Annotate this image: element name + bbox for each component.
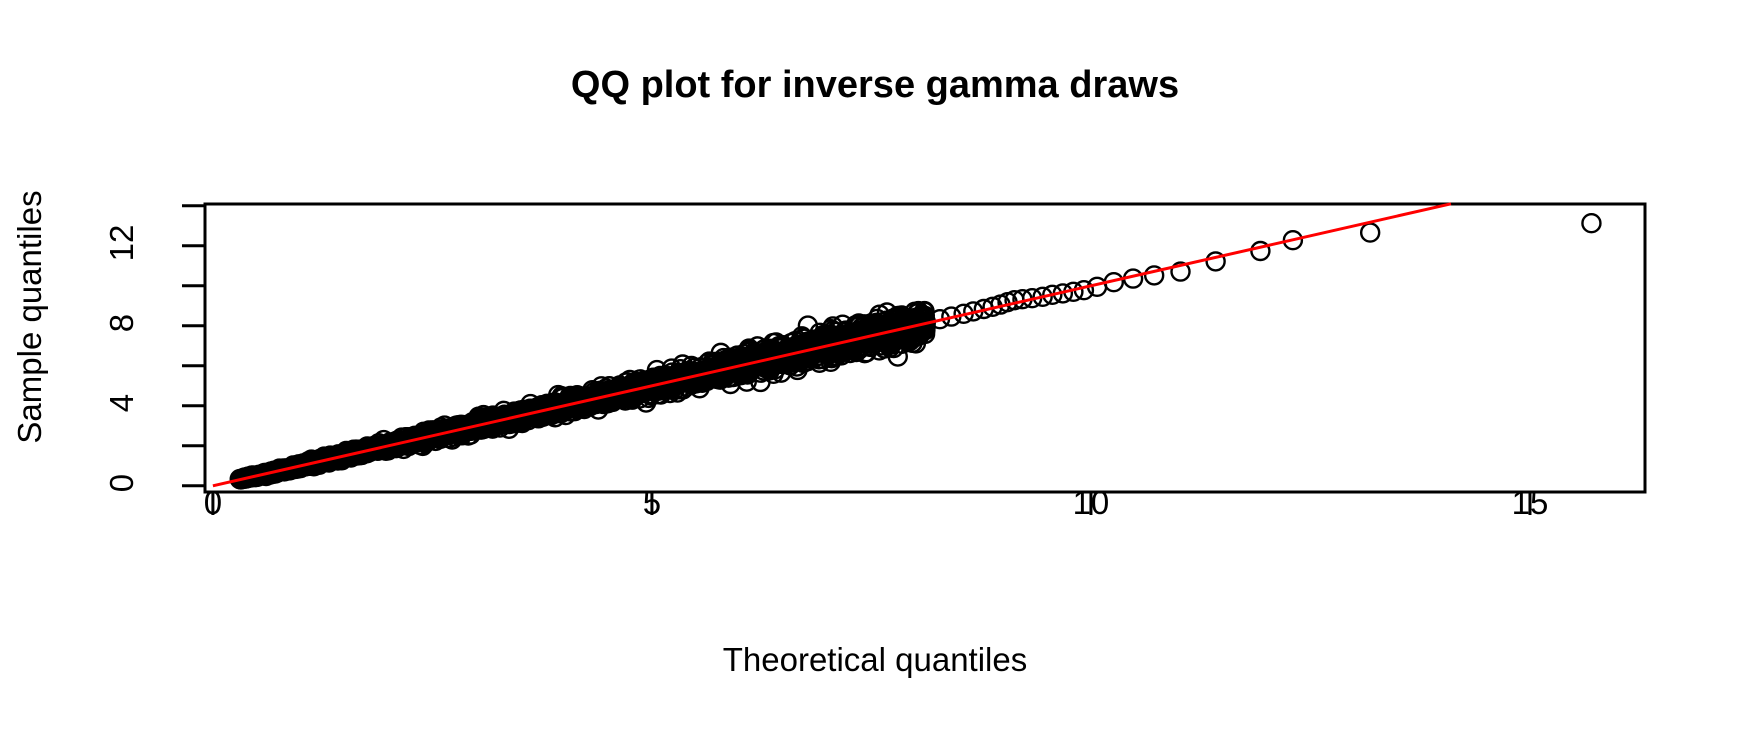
y-axis-ticks (182, 206, 205, 486)
x-axis-ticks (213, 492, 1530, 515)
y-tick-label: 4 (103, 367, 141, 439)
x-tick-label: 0 (153, 484, 273, 522)
x-tick-label: 10 (1031, 484, 1151, 522)
y-tick-label: 12 (103, 207, 141, 279)
qq-reference-line (213, 204, 1451, 486)
qq-plot-figure: QQ plot for inverse gamma draws 051015 0… (0, 0, 1750, 750)
plot-canvas (0, 0, 1750, 750)
x-tick-label: 5 (592, 484, 712, 522)
y-tick-label: 0 (103, 447, 141, 519)
x-axis-title: Theoretical quantiles (0, 641, 1750, 679)
y-tick-label: 8 (103, 287, 141, 359)
x-tick-label: 15 (1470, 484, 1590, 522)
scatter-points (231, 214, 1601, 488)
